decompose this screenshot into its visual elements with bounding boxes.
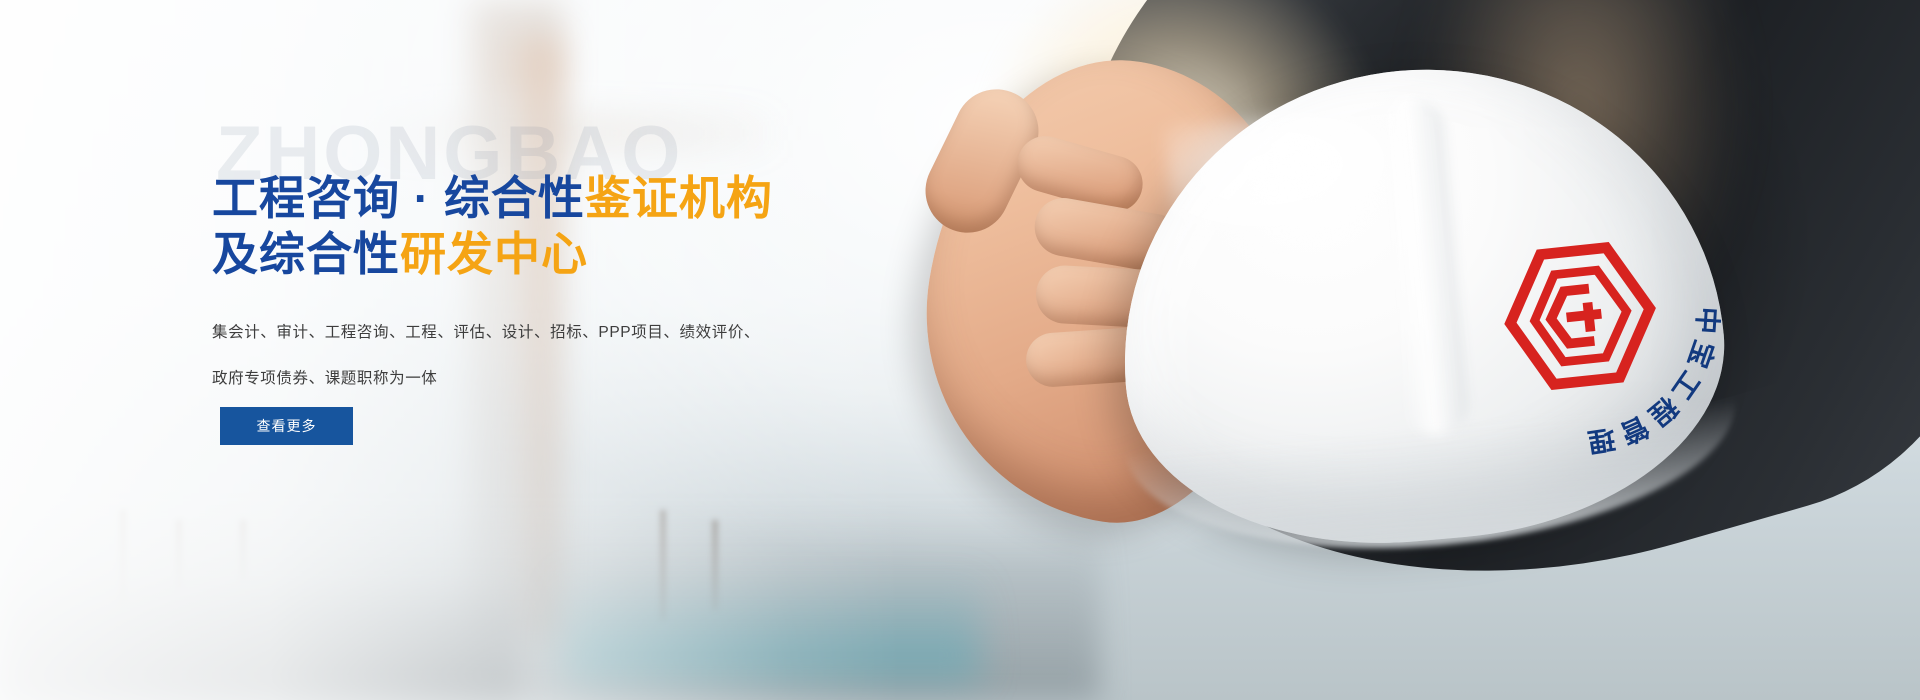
description-line-2: 政府专项债券、课题职称为一体	[212, 356, 832, 402]
headline-line2-blue: 及综合性	[212, 228, 400, 280]
view-more-button[interactable]: 查看更多	[220, 407, 353, 445]
headline-line1-orange: 鉴证机构	[585, 172, 773, 224]
hero-description: 集会计、审计、工程咨询、工程、评估、设计、招标、PPP项目、绩效评价、 政府专项…	[212, 310, 832, 402]
helmet-brand-logo: 中宝工程管理	[1415, 150, 1745, 480]
helmet-gloss	[1163, 103, 1433, 255]
hexagon-mark-icon	[1495, 235, 1665, 397]
headline-line-2: 及综合性研发中心	[212, 226, 872, 282]
headline-line2-orange: 研发中心	[400, 228, 588, 280]
description-line-1: 集会计、审计、工程咨询、工程、评估、设计、招标、PPP项目、绩效评价、	[212, 310, 832, 356]
hero-content: ZHONGBAO 工程咨询 · 综合性鉴证机构 及综合性研发中心 集会计、审计、…	[0, 0, 900, 700]
headline-line-1: 工程咨询 · 综合性鉴证机构	[212, 170, 872, 226]
hand-holding-helmet-photo	[820, 0, 1920, 700]
hero-headline: 工程咨询 · 综合性鉴证机构 及综合性研发中心	[212, 170, 872, 282]
headline-line1-blue: 工程咨询 · 综合性	[212, 172, 585, 224]
hero-banner: 中宝工程管理 ZHONGBAO 工程咨询 · 综合性鉴证机构 及综合性研发中心 …	[0, 0, 1920, 700]
